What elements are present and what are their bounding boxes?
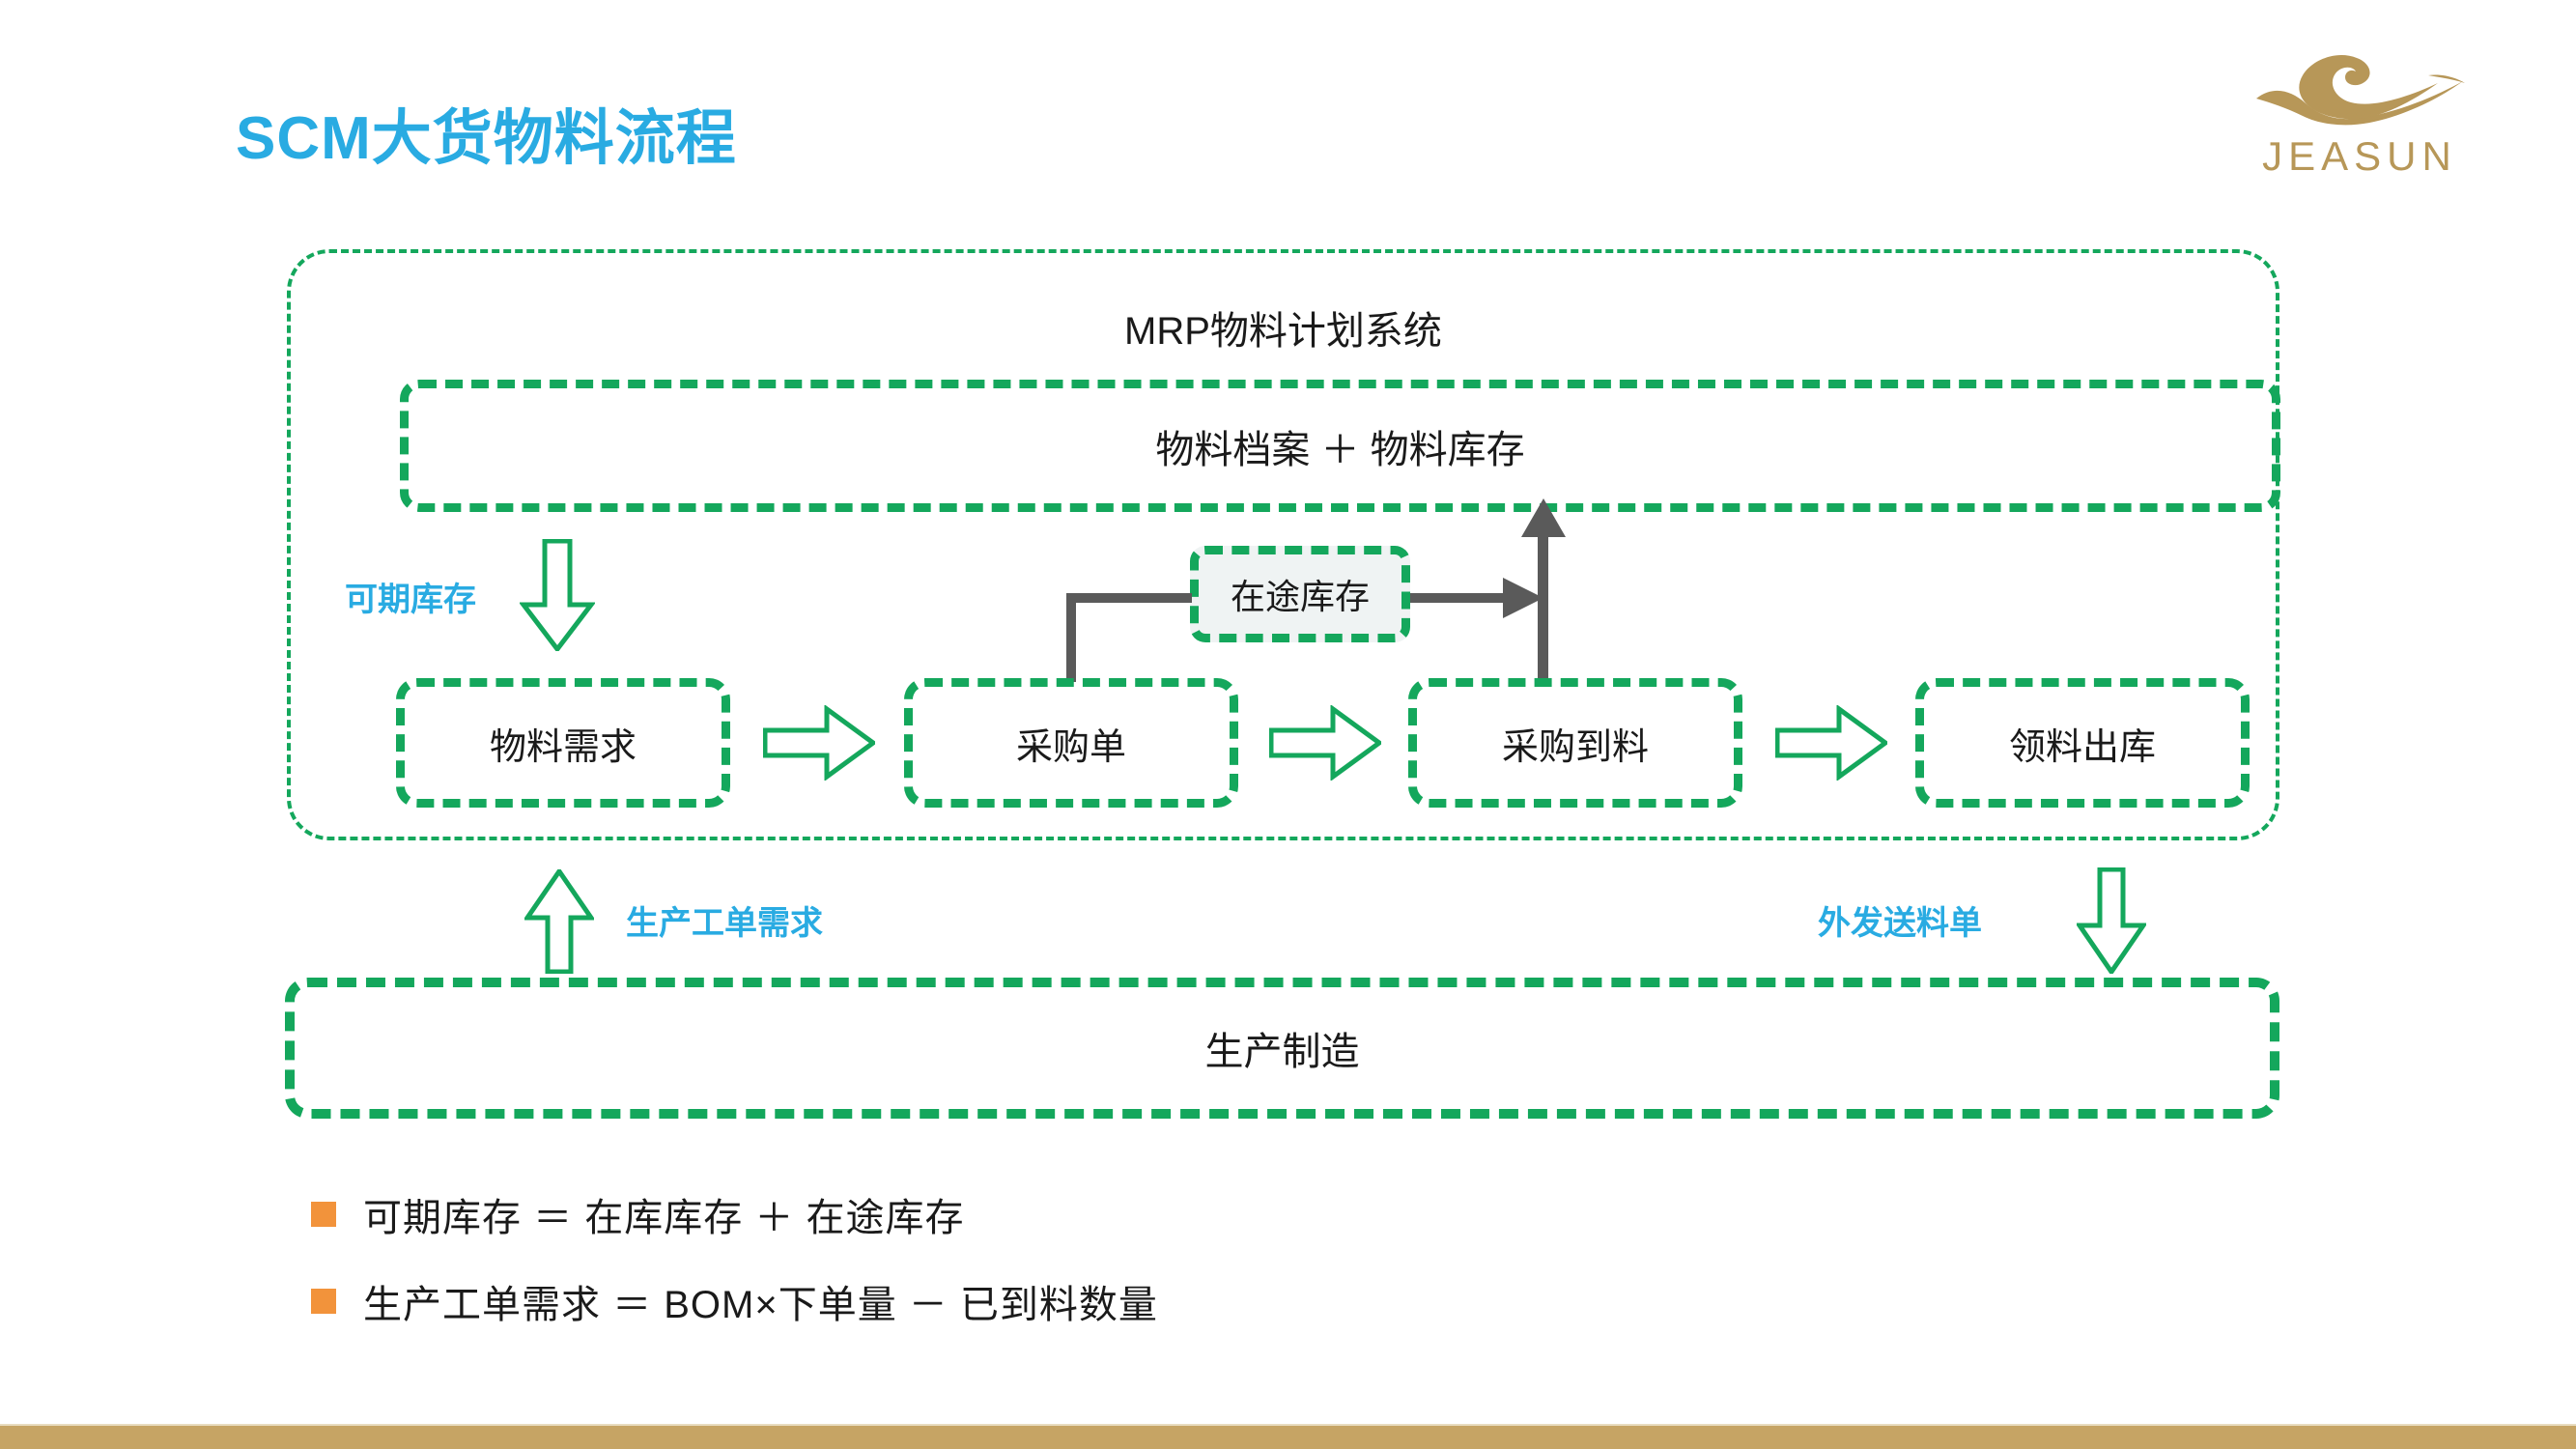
node-material-issue-label: 领料出库 (2009, 717, 2156, 770)
note-text: 生产工单需求 ＝ BOM×下单量 － 已到料数量 (363, 1273, 1158, 1329)
note-text: 可期库存 ＝ 在库库存 ＋ 在途库存 (363, 1186, 964, 1242)
node-material-demand: 物料需求 (396, 678, 730, 808)
node-material-demand-label: 物料需求 (490, 717, 637, 770)
node-production-manufacturing-label: 生产制造 (1205, 1020, 1360, 1076)
flow-arrow-down-icon (520, 539, 595, 651)
flow-arrow-up-icon (524, 869, 594, 974)
logo-wordmark: JEASUN (2249, 133, 2471, 180)
connector-up-arrowhead-icon (1521, 498, 1566, 537)
footer-accent-bar (0, 1424, 2576, 1449)
flow-arrow-right-icon (763, 705, 875, 781)
bullet-square-icon (311, 1289, 336, 1314)
connector-transit-left-horizontal (1066, 593, 1192, 603)
connector-transit-to-po-vertical (1066, 593, 1076, 682)
jeasun-swoosh-icon (2249, 46, 2471, 135)
label-outsourcing-issue: 外发送料单 (1818, 896, 1982, 944)
node-purchase-receipt: 采购到料 (1408, 678, 1742, 808)
node-material-issue: 领料出库 (1915, 678, 2250, 808)
page-title: SCM大货物料流程 (236, 89, 737, 176)
node-purchase-order-label: 采购单 (1016, 717, 1126, 770)
mrp-container-title: MRP物料计划系统 (291, 299, 2276, 355)
node-purchase-receipt-label: 采购到料 (1502, 717, 1649, 770)
node-purchase-order: 采购单 (904, 678, 1238, 808)
connector-transit-right-horizontal (1410, 593, 1514, 603)
connector-right-arrowhead-icon (1503, 578, 1543, 618)
node-production-manufacturing: 生产制造 (285, 978, 2279, 1119)
material-archive-inventory-box: 物料档案 ＋ 物料库存 (400, 380, 2280, 512)
formula-notes-list: 可期库存 ＝ 在库库存 ＋ 在途库存 生产工单需求 ＝ BOM×下单量 － 已到… (311, 1186, 1856, 1360)
slide-canvas: SCM大货物料流程 JEASUN MRP物料计划系统 物料档案 ＋ 物料库存 在… (0, 0, 2576, 1449)
flow-arrow-down-icon (2077, 867, 2146, 974)
label-expected-stock: 可期库存 (345, 573, 476, 620)
bullet-square-icon (311, 1202, 336, 1227)
flow-arrow-right-icon (1775, 705, 1887, 781)
node-in-transit-stock: 在途库存 (1190, 546, 1410, 642)
material-band-label: 物料档案 ＋ 物料库存 (1155, 418, 1524, 474)
list-item: 可期库存 ＝ 在库库存 ＋ 在途库存 (311, 1186, 1856, 1242)
flow-arrow-right-icon (1269, 705, 1381, 781)
label-work-order-demand: 生产工单需求 (626, 896, 823, 944)
node-in-transit-stock-label: 在途库存 (1231, 569, 1370, 619)
list-item: 生产工单需求 ＝ BOM×下单量 － 已到料数量 (311, 1273, 1856, 1329)
jeasun-logo: JEASUN (2249, 46, 2471, 182)
